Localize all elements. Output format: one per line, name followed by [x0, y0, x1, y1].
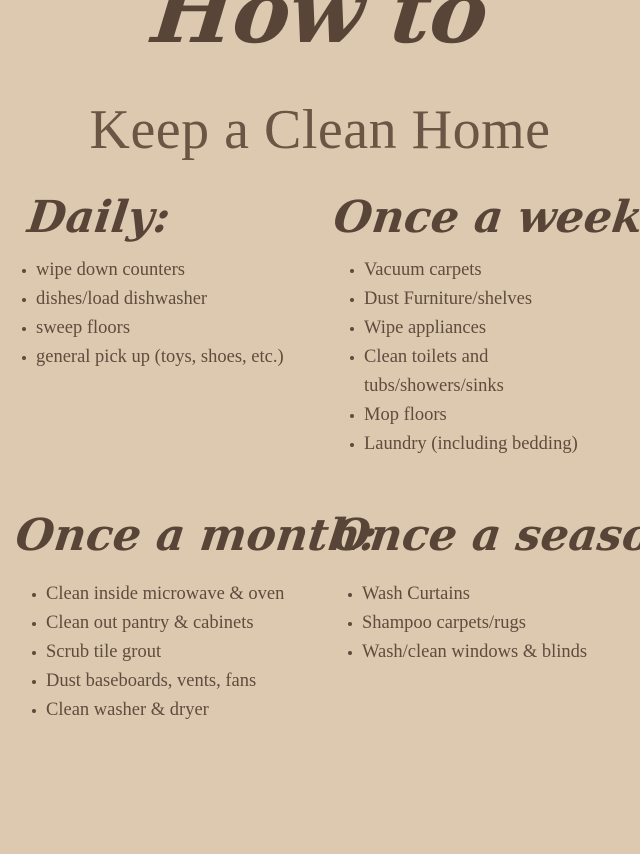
section-heading-once-a-month: Once a month: — [13, 514, 379, 558]
list-item: Clean washer & dryer — [30, 696, 284, 725]
list-item: sweep floors — [20, 314, 284, 343]
list-item: general pick up (toys, shoes, etc.) — [20, 343, 284, 372]
list-item: Clean toilets and — [348, 343, 578, 372]
section-list-daily: wipe down countersdishes/load dishwasher… — [20, 256, 284, 372]
list-item: dishes/load dishwasher — [20, 285, 284, 314]
list-item: Scrub tile grout — [30, 638, 284, 667]
list-item: Wash Curtains — [346, 580, 587, 609]
poster-title-script: How to — [0, 0, 640, 61]
list-item: Dust Furniture/shelves — [348, 285, 578, 314]
list-item: Mop floors — [348, 401, 578, 430]
section-heading-once-a-week: Once a week: — [331, 196, 640, 240]
section-list-once-a-month: Clean inside microwave & ovenClean out p… — [30, 580, 284, 725]
list-item: Clean out pantry & cabinets — [30, 609, 284, 638]
section-heading-daily: Daily: — [25, 196, 172, 240]
list-item-continuation: tubs/showers/sinks — [348, 372, 578, 401]
list-item: Shampoo carpets/rugs — [346, 609, 587, 638]
section-list-once-a-week: Vacuum carpetsDust Furniture/shelvesWipe… — [348, 256, 578, 459]
section-heading-once-a-season: Once a season: — [329, 514, 640, 558]
list-item: Laundry (including bedding) — [348, 430, 578, 459]
list-item: Clean inside microwave & oven — [30, 580, 284, 609]
poster-title-main: Keep a Clean Home — [0, 102, 640, 158]
list-item: Wash/clean windows & blinds — [346, 638, 587, 667]
list-item: Dust baseboards, vents, fans — [30, 667, 284, 696]
cleaning-checklist-poster: How to Keep a Clean Home Daily: wipe dow… — [0, 0, 640, 854]
list-item: Vacuum carpets — [348, 256, 578, 285]
list-item: Wipe appliances — [348, 314, 578, 343]
list-item: wipe down counters — [20, 256, 284, 285]
section-list-once-a-season: Wash CurtainsShampoo carpets/rugsWash/cl… — [346, 580, 587, 667]
